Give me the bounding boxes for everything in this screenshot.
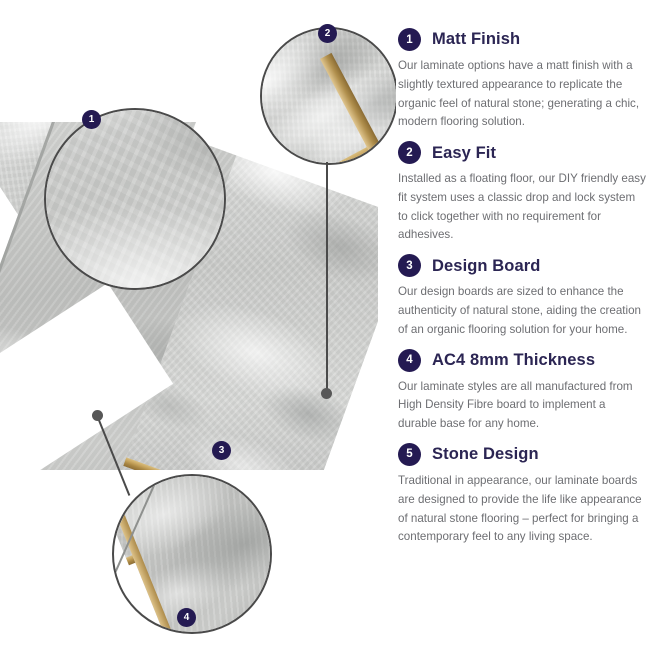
- feature-3-title: Design Board: [432, 257, 540, 275]
- feature-5-header: 5 Stone Design: [398, 443, 646, 466]
- feature-2-header: 2 Easy Fit: [398, 141, 646, 164]
- feature-1-header: 1 Matt Finish: [398, 28, 646, 51]
- feature-3-body: Our design boards are sized to enhance t…: [398, 283, 646, 339]
- infographic-root: Flooring Mountain: [0, 0, 650, 650]
- feature-1-body: Our laminate options have a matt finish …: [398, 57, 646, 132]
- feature-item-5: 5 Stone Design Traditional in appearance…: [398, 443, 646, 547]
- feature-list: 1 Matt Finish Our laminate options have …: [398, 28, 646, 556]
- leader-dot-2: [321, 388, 332, 399]
- callout-circle-2: [260, 27, 396, 165]
- feature-item-4: 4 AC4 8mm Thickness Our laminate styles …: [398, 349, 646, 434]
- feature-3-number: 3: [398, 254, 421, 277]
- feature-2-number: 2: [398, 141, 421, 164]
- image-badge-2: 2: [318, 24, 337, 43]
- feature-item-3: 3 Design Board Our design boards are siz…: [398, 254, 646, 339]
- feature-item-2: 2 Easy Fit Installed as a floating floor…: [398, 141, 646, 245]
- feature-3-header: 3 Design Board: [398, 254, 646, 277]
- leader-dot-4: [92, 410, 103, 421]
- callout-1-texture: [46, 110, 224, 288]
- feature-1-title: Matt Finish: [432, 30, 520, 48]
- feature-4-body: Our laminate styles are all manufactured…: [398, 378, 646, 434]
- image-badge-3: 3: [212, 441, 231, 460]
- feature-2-title: Easy Fit: [432, 144, 496, 162]
- product-photo: 1 2: [0, 0, 396, 650]
- feature-4-number: 4: [398, 349, 421, 372]
- feature-5-title: Stone Design: [432, 445, 539, 463]
- feature-1-number: 1: [398, 28, 421, 51]
- feature-4-header: 4 AC4 8mm Thickness: [398, 349, 646, 372]
- feature-item-1: 1 Matt Finish Our laminate options have …: [398, 28, 646, 132]
- callout-4-plank-b: [114, 476, 270, 632]
- image-badge-4: 4: [177, 608, 196, 627]
- image-badge-1: 1: [82, 110, 101, 129]
- feature-5-number: 5: [398, 443, 421, 466]
- feature-5-body: Traditional in appearance, our laminate …: [398, 472, 646, 547]
- feature-2-body: Installed as a floating floor, our DIY f…: [398, 170, 646, 245]
- leader-line-2: [326, 162, 328, 394]
- feature-4-title: AC4 8mm Thickness: [432, 351, 595, 369]
- callout-circle-1: [44, 108, 226, 290]
